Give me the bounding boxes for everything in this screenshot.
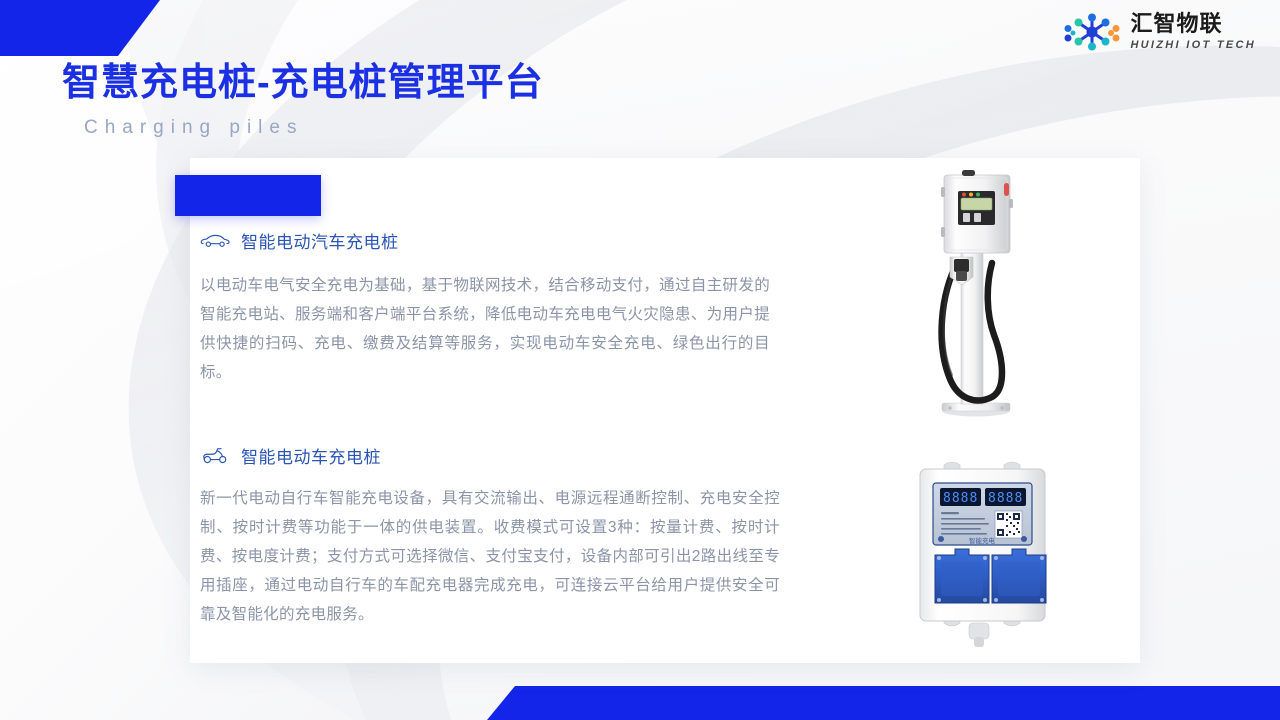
brand-name-en: HUIZHI IOT TECH	[1130, 40, 1256, 51]
section-body-text: 新一代电动自行车智能充电设备，具有交流输出、电源远程通断控制、充电安全控制、按时…	[200, 484, 780, 629]
section-ebike-charging-pile: 智能电动车充电桩 新一代电动自行车智能充电设备，具有交流输出、电源远程通断控制、…	[200, 443, 780, 629]
ev-charging-pile-photo	[900, 165, 1070, 420]
scooter-icon	[200, 445, 230, 467]
brand-logo: 汇智物联 HUIZHI IOT TECH	[1062, 12, 1256, 52]
section-body-text: 以电动车电气安全充电为基础，基于物联网技术，结合移动支付，通过自主研发的智能充电…	[200, 271, 770, 387]
page-subtitle: Charging piles	[84, 117, 544, 139]
page-header: 智慧充电桩-充电桩管理平台 Charging piles	[62, 62, 544, 139]
molecule-network-icon	[1062, 12, 1122, 52]
section-title: 智能电动汽车充电桩	[241, 228, 399, 253]
car-icon	[200, 230, 230, 252]
display-left-value: 8888	[943, 491, 978, 506]
section-tab-badge[interactable]	[175, 175, 321, 216]
section-header: 智能电动汽车充电桩	[200, 228, 770, 253]
corner-accent-bottom-right	[487, 686, 1280, 720]
section-header: 智能电动车充电桩	[200, 443, 780, 468]
brand-name-block: 汇智物联 HUIZHI IOT TECH	[1130, 13, 1256, 51]
page-title: 智慧充电桩-充电桩管理平台	[62, 62, 544, 106]
display-right-value: 8888	[988, 491, 1023, 506]
brand-name-cn: 汇智物联	[1130, 13, 1222, 35]
qr-code	[995, 511, 1022, 538]
panel-brand-label: 智能充电	[969, 536, 996, 545]
ebike-charging-box-photo: 8888 8888	[900, 455, 1065, 655]
section-title: 智能电动车充电桩	[241, 443, 381, 468]
section-ev-charging-pile: 智能电动汽车充电桩 以电动车电气安全充电为基础，基于物联网技术，结合移动支付，通…	[200, 228, 770, 387]
